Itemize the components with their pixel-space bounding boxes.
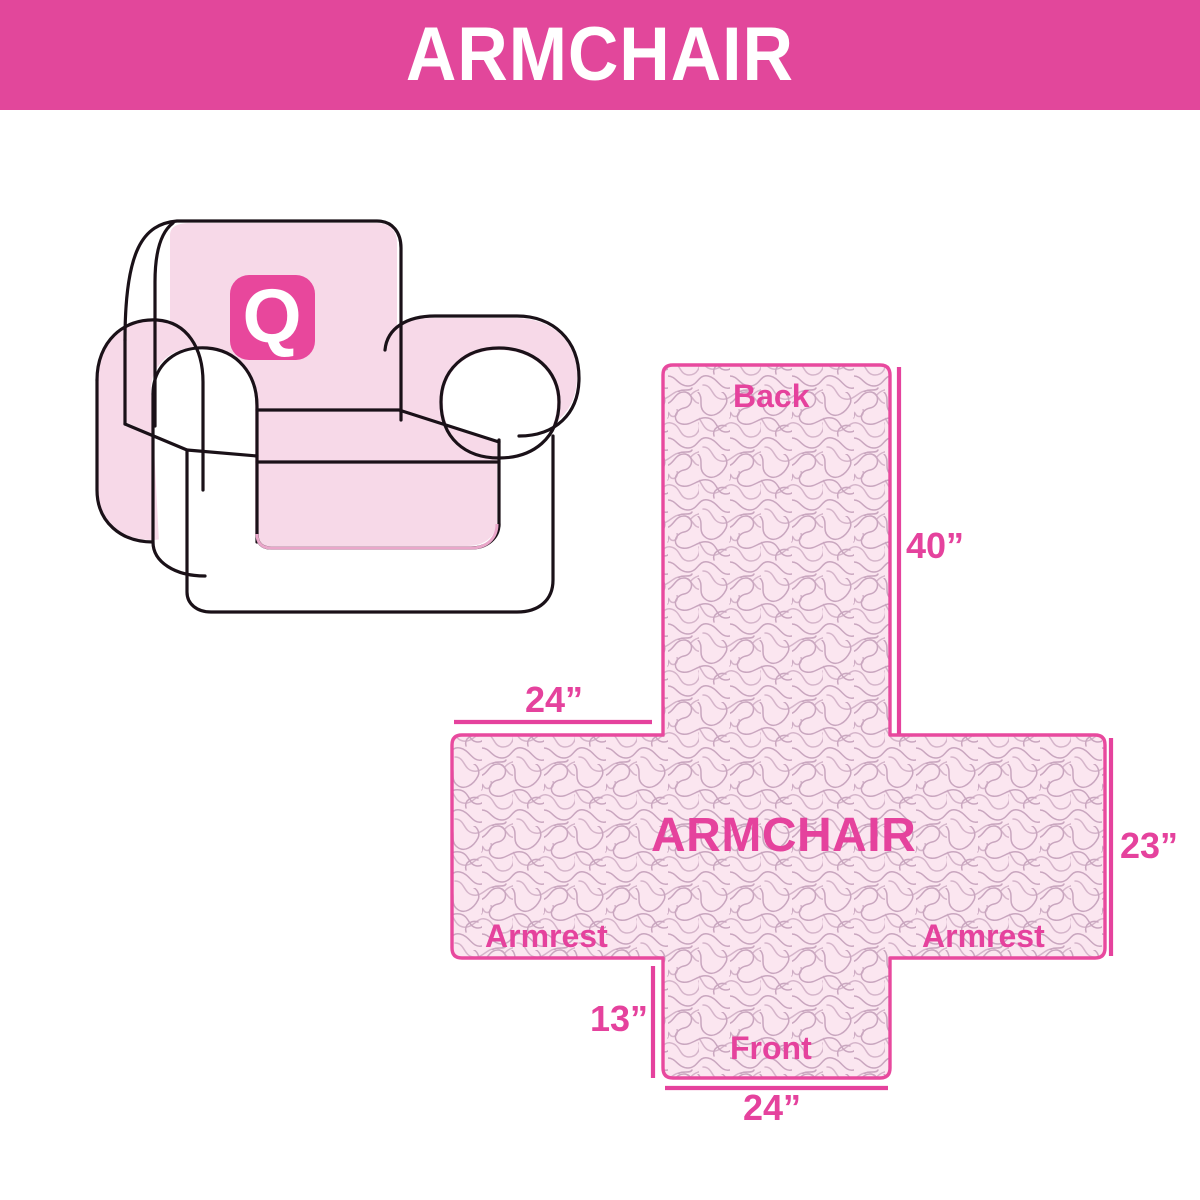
- slipcover-pattern-diagram: [420, 330, 1200, 1140]
- panel-label-center: ARMCHAIR: [651, 812, 916, 860]
- page-header: ARMCHAIR: [0, 0, 1200, 110]
- dimension-back-height: 40”: [906, 528, 964, 564]
- panel-label-front: Front: [730, 1032, 812, 1064]
- dimension-front-width: 24”: [743, 1090, 801, 1126]
- page-root: ARMCHAIR: [0, 0, 1200, 1200]
- panel-label-armrest-left: Armrest: [485, 920, 608, 952]
- logo-letter: Q: [242, 274, 301, 359]
- dimension-armrest-depth: 23”: [1120, 828, 1178, 864]
- pattern-diagram-svg: [420, 330, 1200, 1140]
- page-title: ARMCHAIR: [406, 17, 794, 93]
- dimension-front-height: 13”: [590, 1001, 648, 1037]
- panel-label-armrest-right: Armrest: [922, 920, 1045, 952]
- dimension-back-width: 24”: [525, 682, 583, 718]
- panel-label-back: Back: [733, 380, 810, 412]
- brand-logo: Q: [230, 274, 315, 360]
